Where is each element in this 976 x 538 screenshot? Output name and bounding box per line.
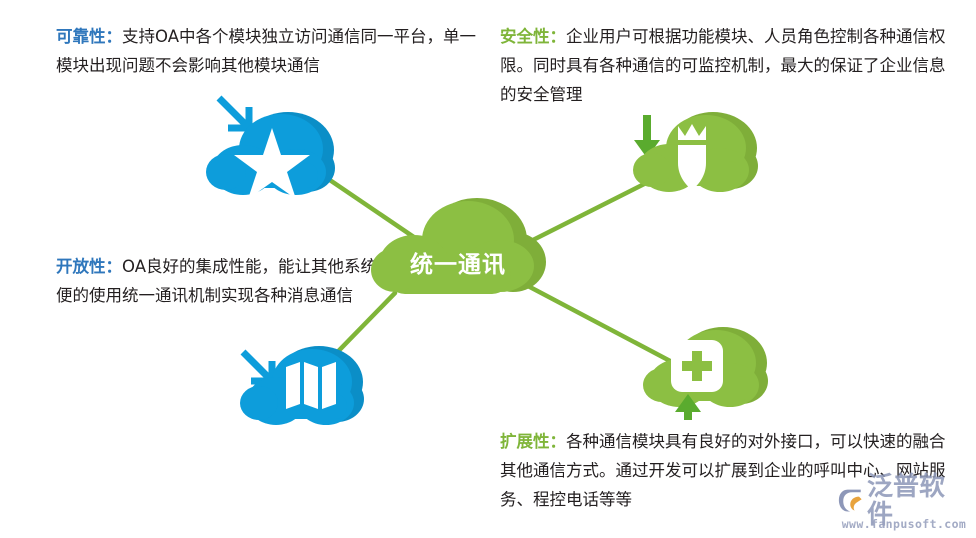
arrow-down-right-icon bbox=[219, 98, 249, 128]
logo-url: www.fanpusoft.com bbox=[838, 517, 970, 531]
node-openness[interactable] bbox=[240, 346, 364, 425]
shield-cloud-icon bbox=[633, 112, 758, 192]
center-node-label: 统一通讯 bbox=[410, 251, 506, 278]
plus-cloud-icon bbox=[643, 327, 768, 407]
node-extensibility[interactable] bbox=[643, 327, 768, 420]
arrow-down-right-icon bbox=[243, 352, 272, 381]
fanpu-logo-mark bbox=[838, 487, 866, 515]
node-reliability[interactable] bbox=[206, 98, 335, 199]
cloud-network-diagram: 统一通讯 bbox=[0, 0, 976, 538]
connector-center-extensibility bbox=[528, 286, 672, 362]
infographic-canvas: 可靠性：支持OA中各个模块独立访问通信同一平台，单一模块出现问题不会影响其他模块… bbox=[0, 0, 976, 538]
center-node-unified-communication[interactable]: 统一通讯 bbox=[371, 198, 546, 294]
map-cloud-icon bbox=[240, 346, 364, 425]
node-security[interactable] bbox=[633, 112, 758, 192]
star-cloud-icon bbox=[206, 112, 335, 199]
brand-logo: 泛普软件 www.fanpusoft.com bbox=[838, 486, 970, 534]
